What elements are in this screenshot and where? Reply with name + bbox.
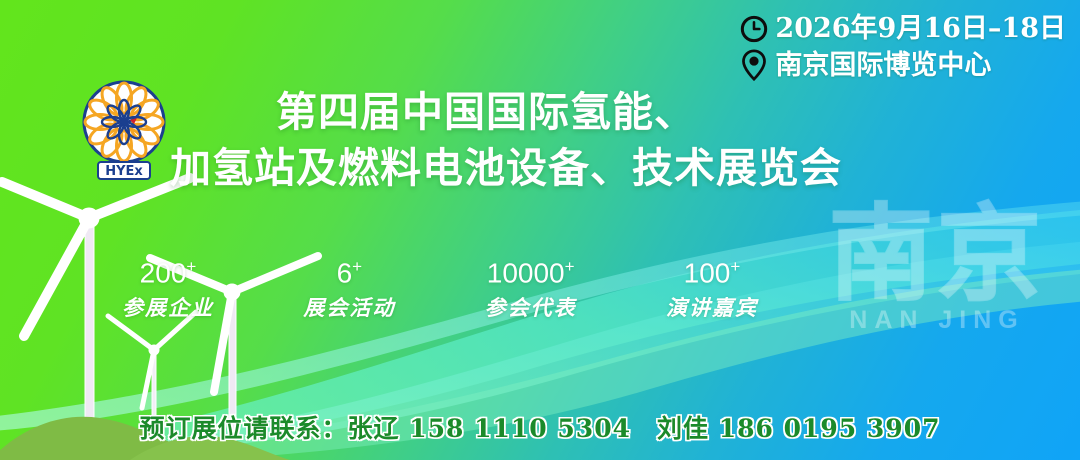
event-date-row: 2026年9月16日–18日 — [740, 14, 1066, 43]
contact-prefix: 预订展位请联系： — [139, 414, 347, 443]
stats-row: 200+ 参展企业 6+ 展会活动 10000+ 参会代表 100+ 演讲嘉宾 — [120, 258, 760, 322]
contact-person-1-phone: 158 1110 5304 — [409, 414, 631, 443]
event-venue-text: 南京国际博览中心 — [775, 51, 991, 80]
title-line-1: 第四届中国国际氢能、 — [146, 88, 866, 136]
watermark-chinese: 南京 — [812, 205, 1062, 304]
stat-events: 6+ 展会活动 — [301, 258, 397, 322]
event-venue-row: 南京国际博览中心 — [740, 49, 1066, 81]
stat-number: 6+ — [301, 258, 397, 287]
stat-label: 参展企业 — [120, 292, 216, 322]
map-pin-icon — [740, 49, 768, 81]
event-date-text: 2026年9月16日–18日 — [775, 14, 1066, 43]
contact-person-2-name: 刘佳 — [657, 414, 709, 443]
page-title: 第四届中国国际氢能、 加氢站及燃料电池设备、技术展览会 — [146, 88, 866, 193]
stat-number: 10000+ — [483, 258, 579, 287]
event-banner: 南京 NAN JING 2026年9月16日–18日 南京国际博览中心 — [0, 0, 1080, 460]
logo-badge-text: HYEx — [105, 164, 143, 179]
stat-label: 参会代表 — [483, 292, 579, 322]
clock-icon — [740, 15, 768, 43]
contact-person-1-name: 张辽 — [348, 414, 400, 443]
stat-label: 展会活动 — [301, 292, 397, 322]
contact-line: 预订展位请联系：张辽 158 1110 5304刘佳 186 0195 3907 — [139, 409, 940, 445]
watermark: 南京 NAN JING — [812, 205, 1062, 335]
event-info: 2026年9月16日–18日 南京国际博览中心 — [740, 14, 1066, 87]
stat-number: 100+ — [664, 258, 760, 287]
stat-attendees: 10000+ 参会代表 — [483, 258, 579, 322]
watermark-english: NAN JING — [812, 306, 1062, 335]
contact-bar: 预订展位请联系：张辽 158 1110 5304刘佳 186 0195 3907 — [0, 409, 1080, 445]
stat-label: 演讲嘉宾 — [664, 292, 760, 322]
stat-exhibitors: 200+ 参展企业 — [120, 258, 216, 322]
stat-number: 200+ — [120, 258, 216, 287]
stat-speakers: 100+ 演讲嘉宾 — [664, 258, 760, 322]
title-line-2: 加氢站及燃料电池设备、技术展览会 — [146, 144, 866, 192]
contact-person-2-phone: 186 0195 3907 — [719, 414, 941, 443]
